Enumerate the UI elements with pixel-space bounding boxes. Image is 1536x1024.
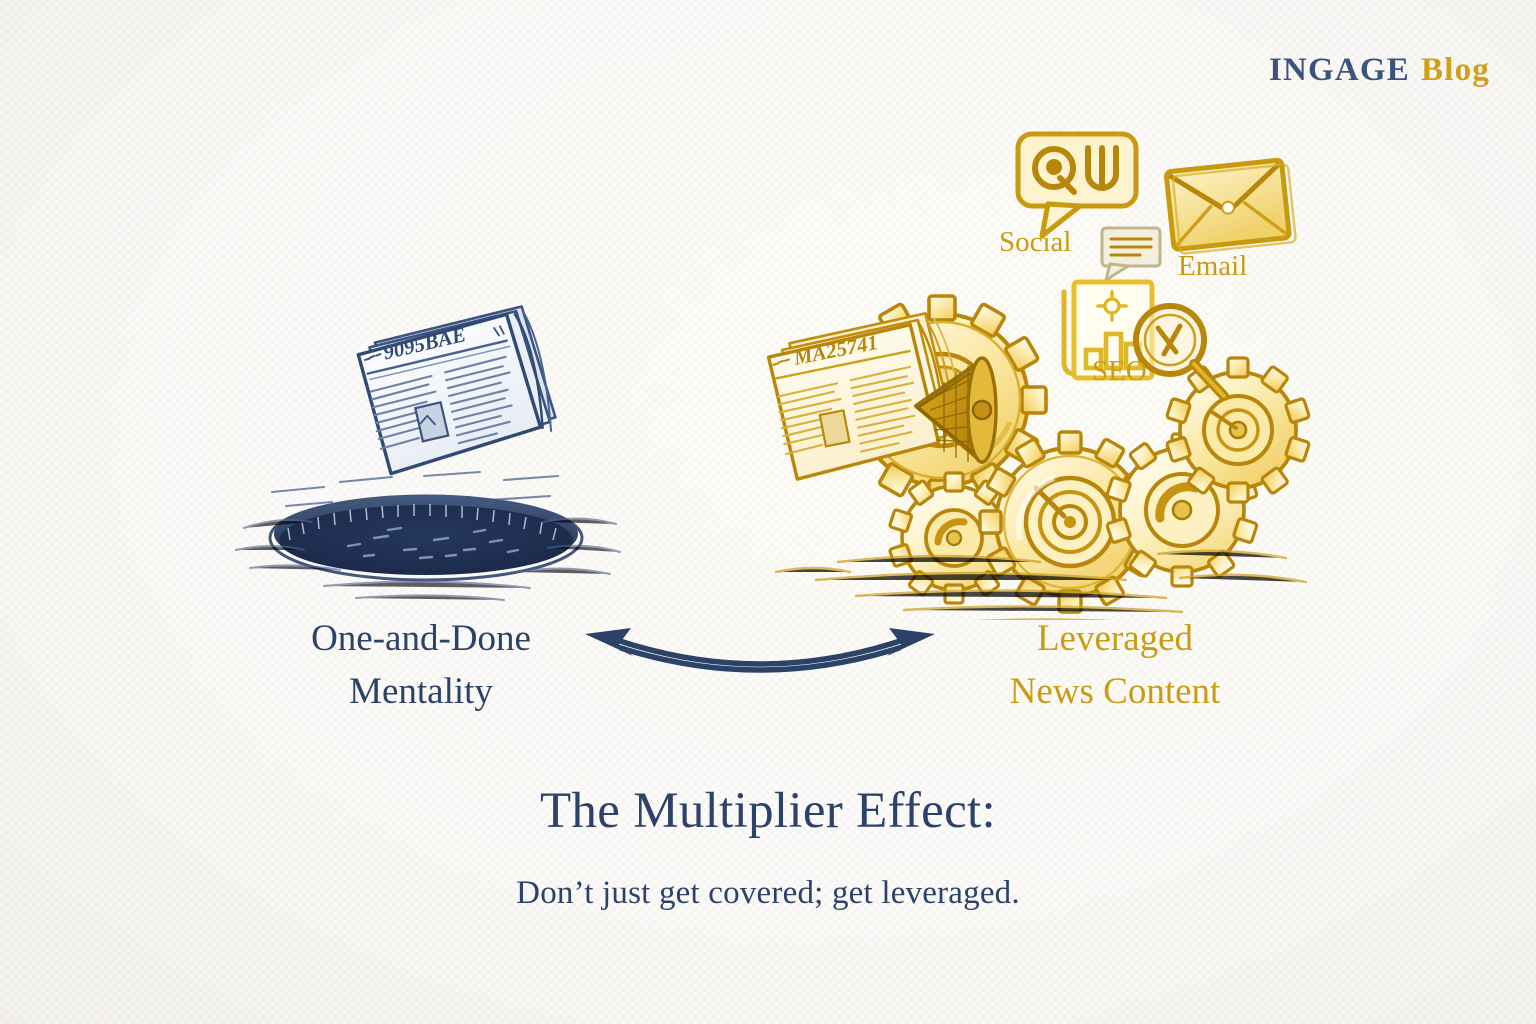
envelope-icon bbox=[1166, 159, 1296, 254]
concept-label-left: One-and-Done Mentality bbox=[206, 613, 636, 718]
chat-lines-icon bbox=[1102, 228, 1160, 280]
concept-label-right: Leveraged News Content bbox=[900, 613, 1330, 718]
page-subtitle: Don’t just get covered; get leveraged. bbox=[0, 875, 1536, 912]
page-title: The Multiplier Effect: bbox=[0, 782, 1536, 840]
channel-label-email: Email bbox=[1178, 250, 1247, 283]
newspaper-left-icon: 9095BAE bbox=[355, 304, 560, 476]
brand-name: INGAGE bbox=[1269, 52, 1410, 88]
one-and-done-artwork: 9095BAE bbox=[228, 300, 628, 620]
speech-bubble-icon bbox=[1018, 134, 1136, 236]
leveraged-content-artwork: MA25741 bbox=[730, 110, 1350, 620]
channel-label-social: Social bbox=[999, 226, 1072, 259]
brand-logo: INGAGEBlog bbox=[1269, 52, 1490, 89]
brand-suffix: Blog bbox=[1421, 52, 1490, 88]
gear-icon-upper-right bbox=[1166, 358, 1309, 502]
bidirectional-arrow bbox=[575, 622, 945, 692]
channel-label-seo: SEO bbox=[1092, 355, 1147, 388]
